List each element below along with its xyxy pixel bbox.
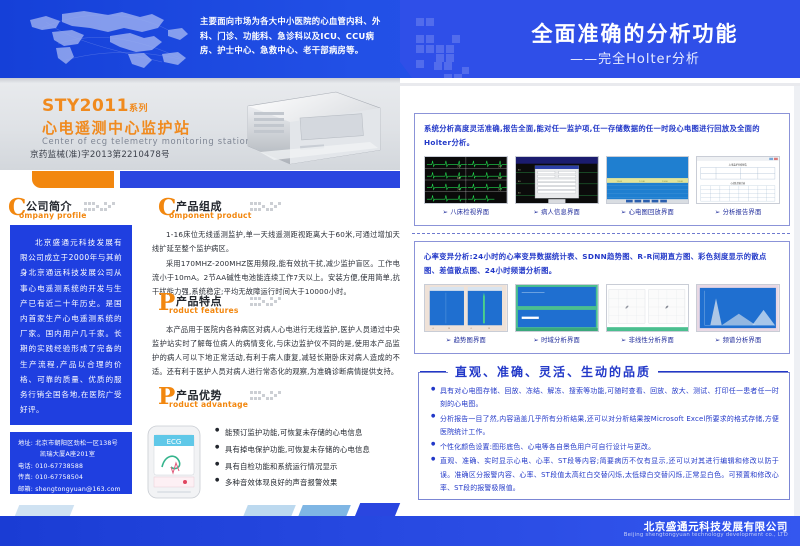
section-title-en: roduct advantage (169, 400, 248, 409)
dotted-arrow-icon (84, 200, 118, 214)
list-item: 直观、准确、实时显示心电、心率、ST段等内容;简要病历不仅有显示,还可以对其进行… (431, 455, 779, 495)
contact-zip-label: 邮编: (18, 497, 33, 504)
report-thumbnail-image: 心电监护分析报告 心律失常统计表 (696, 156, 780, 204)
footer-company-en: Beijing shengtongyuan technology develop… (624, 532, 788, 538)
list-item: 具有掉电保护功能,可恢复未存储的心电信息 (215, 442, 405, 459)
thumbnail-caption: ➢ 病人信息界面 (515, 207, 599, 216)
list-item: 具有对心电图存储、回放、冻结、解冻、搜索等功能,可随时查看、回放、放大、测试、打… (431, 385, 779, 412)
contact-phone-value: 010-67738588 (35, 463, 83, 470)
company-profile-text: 北京盛通元科技发展有限公司成立于2000年与其前身北京通远科技发展公司从事心电遥… (20, 235, 122, 417)
thumbnail-caption: ➢ 非线性分析界面 (606, 335, 690, 344)
contact-fax-row: 传真: 010-67758504 (18, 472, 124, 483)
analysis-panel-1: 系统分析高度灵活准确,报告全面,能对任一监护项,任一存储数据的任一时段心电图进行… (414, 113, 790, 226)
dotted-arrow-icon (250, 295, 284, 309)
list-item: 个性化颜色设置:图形底色、心电等各自景色用户可自行设计与更改。 (431, 441, 779, 454)
analysis-panel-1-thumbnails: 7276 6880 7470 ➢ 八床检视界面 (424, 156, 780, 216)
ecg-multibed-thumbnail-image: 7276 6880 7470 (424, 156, 508, 204)
list-item: 能预订监护功能,可恢复未存储的心电信息 (215, 425, 405, 442)
product-model-text: STY2011 (42, 96, 129, 116)
world-map-graphic (12, 2, 212, 76)
orange-tab (32, 171, 114, 188)
quality-list: 具有对心电图存储、回放、冻结、解冻、搜索等功能,可随时查看、回放、放大、测试、打… (419, 373, 789, 496)
section-header-product-features: P 产品特点 roduct features (150, 293, 400, 319)
list-item: 多种音效体现良好的声音报警效果 (215, 475, 405, 492)
list-item: 具有自检功能和系统运行情况显示 (215, 459, 405, 476)
component-product-para-1: 1-16床位无线遥测监护,单一天线遥测距视距离大于60米,可通过增加天线扩延至整… (152, 228, 400, 256)
contact-phone-row: 电话: 010-67738588 (18, 461, 124, 472)
thumbnail-nonlinear[interactable]: ➢ 非线性分析界面 (606, 284, 690, 344)
thumbnail-caption: ➢ 频谱分析界面 (696, 335, 780, 344)
quality-title-rule-right (652, 371, 788, 372)
contact-email-label: 邮箱: (18, 486, 33, 493)
hero-top-strip (0, 78, 400, 83)
contact-address-line1: 北京市朝阳区劲松一区138号 (35, 440, 118, 447)
banner-right: 全面准确的分析功能 ——完全Holter分析 (400, 0, 800, 78)
top-banner: 主要面向市场为各大中小医院的心血管内科、外科、门诊、功能科、急诊科以及ICU、C… (0, 0, 800, 78)
product-name-cn: 心电遥测中心监护站 (42, 117, 191, 138)
spectrum-thumbnail-image (696, 284, 780, 332)
contact-email-row: 邮箱: shengtongyuan@163.com (18, 484, 124, 495)
product-model: STY2011系列 (42, 96, 148, 116)
dotted-arrow-icon (250, 200, 284, 214)
product-license: 京药监械(准)字2013第2210478号 (30, 148, 170, 160)
section-header-component-product: C 产品组成 omponent product (150, 198, 400, 224)
product-features-para-1: 本产品用于医院内各种病区对病人心电进行无线监护,医护人员通过中央监护站实时了解每… (152, 323, 400, 379)
analysis-panel-2-thumbnails: 012012 ➢ 趋势图界面 ➢ 时域分析界面 (424, 284, 780, 344)
list-item: 分析报告一目了然,内容涵盖几乎所有分析结果,还可以对分析结果按Microsoft… (431, 413, 779, 440)
thumbnail-report[interactable]: 心电监护分析报告 心律失常统计表 (696, 156, 780, 216)
contact-email-value: shengtongyuan@163.com (35, 486, 121, 493)
monitor-station-device-photo (240, 88, 385, 168)
page-title: 全面准确的分析功能 (485, 18, 785, 48)
company-profile-box: 北京盛通元科技发展有限公司成立于2000年与其前身北京通远科技发展公司从事心电遥… (10, 225, 132, 425)
thumbnail-caption: ➢ 心电图回放界面 (606, 207, 690, 216)
section-header-company-profile: C 公司简介 ompany profile (0, 198, 140, 224)
thumbnail-spectrum[interactable]: ➢ 频谱分析界面 (696, 284, 780, 344)
trend-thumbnail-image: 012012 (424, 284, 508, 332)
thumbnail-patient-info[interactable]: 505050 ➢ 病人信息界面 (515, 156, 599, 216)
section-header-product-advantage: P 产品优势 roduct advantage (150, 387, 400, 413)
contact-fax-value: 010-67758504 (35, 474, 83, 481)
svg-text:12:30: 12:30 (639, 181, 645, 183)
thumbnail-ecg-playback[interactable]: 12:0012:30 13:0013:30 ➢ 心电图回放界面 (606, 156, 690, 216)
thumbnail-ecg-multibed[interactable]: 7276 6880 7470 ➢ 八床检视界面 (424, 156, 508, 216)
product-name-en: Center of ecg telemetry monitoring stati… (42, 136, 252, 146)
banner-bottom-rule (400, 83, 800, 86)
time-domain-thumbnail-image (515, 284, 599, 332)
thumbnail-caption: ➢ 分析报告界面 (696, 207, 780, 216)
blue-tab (120, 171, 400, 188)
contact-fax-label: 传真: (18, 474, 33, 481)
page-subtitle: ——完全Holter分析 (485, 48, 785, 67)
thumbnail-caption: ➢ 趋势图界面 (424, 335, 508, 344)
svg-text:13:30: 13:30 (677, 181, 683, 183)
section-title-en: roduct features (169, 306, 239, 315)
thumbnail-caption: ➢ 时域分析界面 (515, 335, 599, 344)
quality-panel: 具有对心电图存储、回放、冻结、解冻、搜索等功能,可随时查看、回放、放大、测试、打… (418, 372, 790, 500)
right-rail (794, 86, 800, 516)
section-title-en: omponent product (169, 211, 252, 220)
contact-info-box: 地址: 北京市朝阳区劲松一区138号 凯瑞大厦A座201室 电话: 010-67… (10, 432, 132, 494)
patient-info-thumbnail-image: 505050 (515, 156, 599, 204)
poster-root: 主要面向市场为各大中小医院的心血管内科、外科、门诊、功能科、急诊科以及ICU、C… (0, 0, 800, 546)
nonlinear-thumbnail-image (606, 284, 690, 332)
svg-text:心电监护分析报告: 心电监护分析报告 (729, 162, 748, 166)
product-advantage-list: 能预订监护功能,可恢复未存储的心电信息 具有掉电保护功能,可恢复未存储的心电信息… (215, 425, 405, 492)
thumbnail-trend[interactable]: 012012 ➢ 趋势图界面 (424, 284, 508, 344)
analysis-panel-2: 心率变异分析:24小时的心率变异数据统计表、SDNN趋势图、R-R间期直方图、彩… (414, 241, 790, 354)
analysis-panel-1-description: 系统分析高度灵活准确,报告全面,能对任一监护项,任一存储数据的任一时段心电图进行… (424, 122, 780, 150)
ecg-playback-thumbnail-image: 12:0012:30 13:0013:30 (606, 156, 690, 204)
thumbnail-caption: ➢ 八床检视界面 (424, 207, 508, 216)
svg-text:12:00: 12:00 (616, 181, 622, 183)
component-product-body: 1-16床位无线遥测监护,单一天线遥测距视距离大于60米,可通过增加天线扩延至整… (152, 228, 400, 300)
dotted-arrow-icon (250, 389, 284, 403)
thumbnail-time-domain[interactable]: ➢ 时域分析界面 (515, 284, 599, 344)
contact-phone-label: 电话: (18, 463, 33, 470)
contact-address-label: 地址: (18, 440, 33, 447)
analysis-panel-2-description: 心率变异分析:24小时的心率变异数据统计表、SDNN趋势图、R-R间期直方图、彩… (424, 250, 780, 278)
svg-text:ECG: ECG (167, 438, 182, 446)
banner-intro-text: 主要面向市场为各大中小医院的心血管内科、外科、门诊、功能科、急诊科以及ICU、C… (200, 14, 390, 58)
svg-text:13:00: 13:00 (662, 181, 668, 183)
section-title-en: ompany profile (19, 211, 87, 220)
quality-title-rule-left (420, 371, 446, 372)
product-series-suffix: 系列 (129, 104, 148, 114)
contact-address-row: 地址: 北京市朝阳区劲松一区138号 (18, 438, 124, 449)
contact-zip-value: 100021 (35, 497, 60, 504)
handheld-transmitter-photo: ECG (145, 423, 207, 503)
product-features-body: 本产品用于医院内各种病区对病人心电进行无线监护,医护人员通过中央监护站实时了解每… (152, 323, 400, 380)
quality-title: 直观、准确、灵活、生动的品质 (448, 363, 658, 380)
contact-address-line2: 凯瑞大厦A座201室 (18, 449, 124, 460)
dashed-separator (412, 233, 790, 234)
